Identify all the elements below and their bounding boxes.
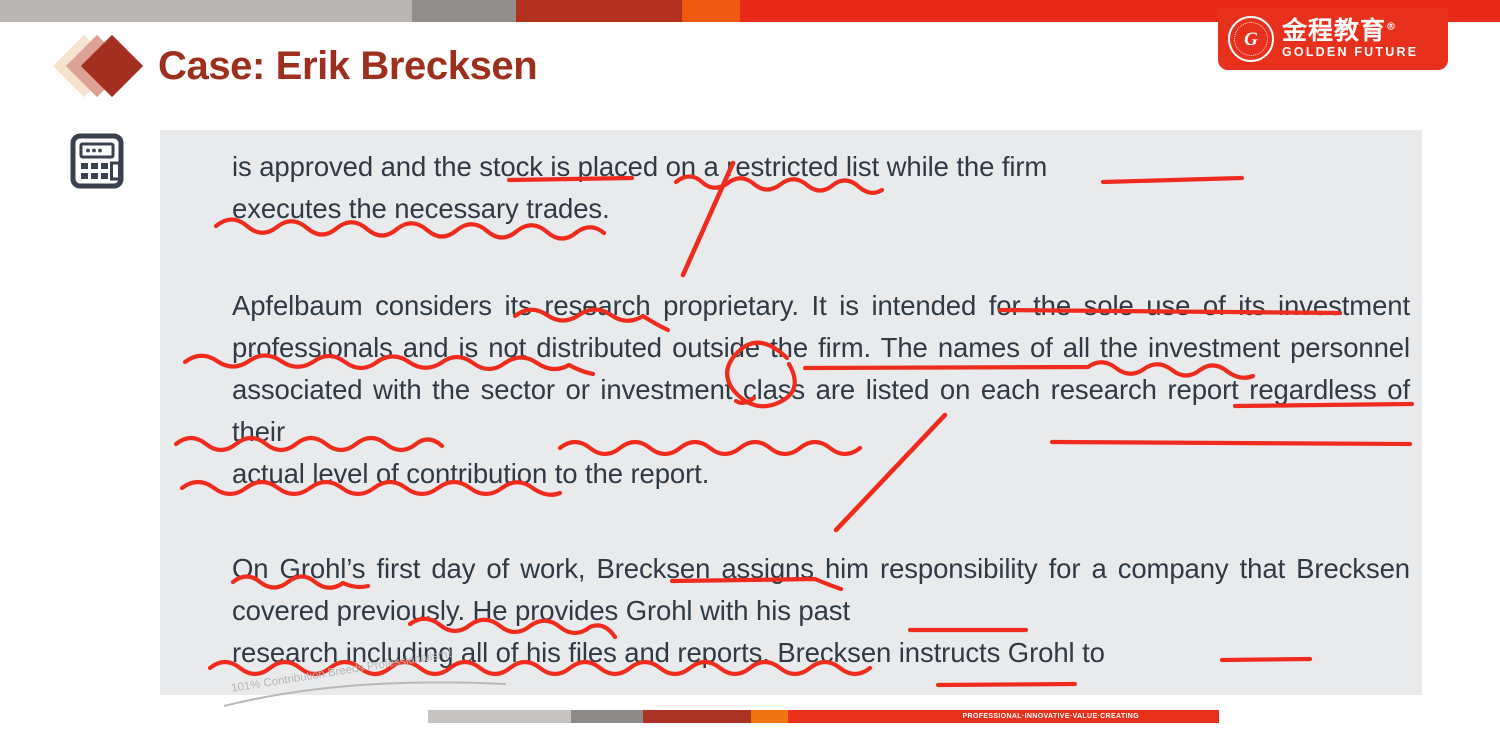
paragraph-2-last-line: actual level of contribution to the repo…	[232, 453, 1410, 495]
decor-segment-dark-red	[643, 710, 751, 723]
page-title: Case: Erik Brecksen	[158, 44, 537, 89]
registered-trademark-icon: ®	[1386, 22, 1397, 33]
slide-canvas: G 金程教育® GOLDEN FUTURE Case: Erik Breckse…	[0, 0, 1500, 750]
calculator-icon	[70, 133, 124, 189]
decor-segment-dark-red	[516, 0, 682, 22]
bottom-decor-bar: PROFESSIONAL·INNOVATIVE·VALUE·CREATING	[428, 710, 1219, 723]
decor-segment-mid-gray	[412, 0, 516, 22]
diamond-bullet-icon	[60, 34, 152, 98]
brand-name-chinese: 金程教育®	[1282, 18, 1418, 44]
slide-header: Case: Erik Brecksen	[60, 30, 537, 102]
decor-segment-light-gray	[0, 0, 412, 22]
footer-tagline: PROFESSIONAL·INNOVATIVE·VALUE·CREATING	[962, 711, 1139, 722]
brand-seal-monogram: G	[1244, 30, 1258, 49]
brand-name-english: GOLDEN FUTURE	[1282, 45, 1418, 60]
slide-content-panel: is approved and the stock is placed on a…	[160, 130, 1422, 695]
decor-segment-mid-gray	[571, 710, 643, 723]
brand-name-chinese-text: 金程教育	[1282, 16, 1386, 45]
decor-segment-light-gray	[428, 710, 571, 723]
brand-logo: G 金程教育® GOLDEN FUTURE	[1218, 8, 1448, 70]
paragraph-2: Apfelbaum considers its research proprie…	[232, 285, 1410, 495]
brand-text-block: 金程教育® GOLDEN FUTURE	[1282, 18, 1418, 60]
brand-seal-icon: G	[1228, 16, 1274, 62]
paragraph-1-last-line: executes the necessary trades.	[232, 188, 1410, 230]
paragraph-1-body: is approved and the stock is placed on a…	[232, 151, 1047, 182]
decor-segment-orange	[682, 0, 740, 22]
paragraph-3-body: On Grohl’s first day of work, Brecksen a…	[232, 553, 1410, 626]
paragraph-2-body: Apfelbaum considers its research proprie…	[232, 290, 1410, 447]
paragraph-3-last-line: research including all of his files and …	[232, 632, 1410, 674]
decor-segment-orange	[751, 710, 788, 723]
paragraph-1: is approved and the stock is placed on a…	[232, 146, 1410, 230]
paragraph-3: On Grohl’s first day of work, Brecksen a…	[232, 548, 1410, 674]
annot-underline-brecksen-instructs	[938, 684, 1075, 685]
